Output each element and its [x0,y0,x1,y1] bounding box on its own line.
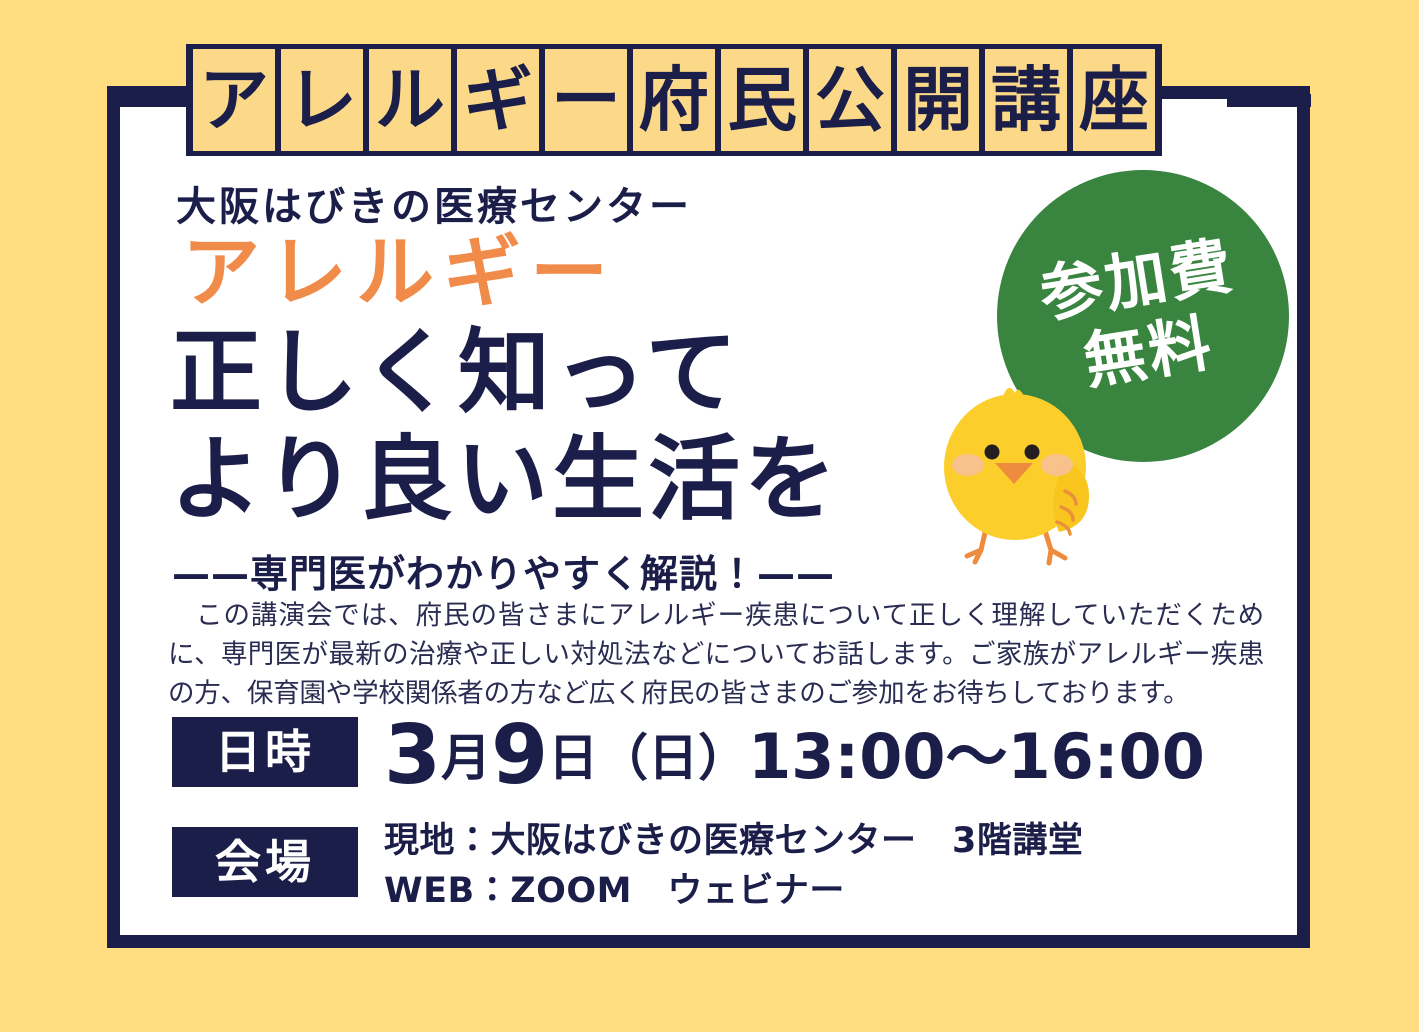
title-cell: ギ [457,49,539,151]
title-banner: ア レ ル ギ ー 府 民 公 開 講 座 [186,44,1162,156]
title-cell: 講 [985,49,1067,151]
title-cell: レ [281,49,363,151]
info-row-datetime: 日時 3月9日（日）13:00〜16:00 [172,717,1205,815]
title-cell: ア [193,49,275,151]
headline-line-1: 正しく知って [170,327,741,419]
body-paragraph: この講演会では、府民の皆さまにアレルギー疾患について正しく理解していただくために… [168,597,1264,714]
title-cell: ー [545,49,627,151]
title-cell: 民 [721,49,803,151]
venue-line-onsite: 現地：大阪はびきの医療センター 3階講堂 [384,817,1083,867]
chick-icon [915,364,1125,569]
title-cell: 開 [897,49,979,151]
headline-accent: アレルギー [182,234,617,312]
datetime-month-number: 3 [384,708,441,803]
poster-root: ア レ ル ギ ー 府 民 公 開 講 座 大阪はびきの医療センター アレルギー… [0,0,1419,1032]
title-cell: 公 [809,49,891,151]
body-paragraph-text: この講演会では、府民の皆さまにアレルギー疾患について正しく理解していただくために… [168,600,1264,709]
datetime-month-unit: 月 [441,729,491,787]
datetime-label-badge: 日時 [172,717,358,787]
organization-name: 大阪はびきの医療センター [176,174,692,232]
datetime-time-range: 13:00〜16:00 [748,720,1205,793]
venue-label-badge: 会場 [172,827,358,897]
headline-subtitle: ——専門医がわかりやすく解説！—— [172,543,835,598]
title-cell: ル [369,49,451,151]
venue-values: 現地：大阪はびきの医療センター 3階講堂 WEB：ZOOM ウェビナー [384,817,1083,916]
headline-line-2: より良い生活を [170,434,840,526]
datetime-weekday: （日） [598,729,748,787]
banner-rule-right [1227,94,1311,107]
venue-line-web: WEB：ZOOM ウェビナー [384,867,1083,917]
poster-content: 大阪はびきの医療センター アレルギー 正しく知って より良い生活を ——専門医が… [120,99,1297,935]
title-cell: 府 [633,49,715,151]
datetime-day-unit: 日 [548,729,598,787]
datetime-day-number: 9 [491,708,548,803]
title-cell: 座 [1073,49,1155,151]
banner-rule-left [107,94,193,107]
info-row-venue: 会場 現地：大阪はびきの医療センター 3階講堂 WEB：ZOOM ウェビナー [172,817,1083,916]
datetime-value: 3月9日（日）13:00〜16:00 [384,717,1205,815]
